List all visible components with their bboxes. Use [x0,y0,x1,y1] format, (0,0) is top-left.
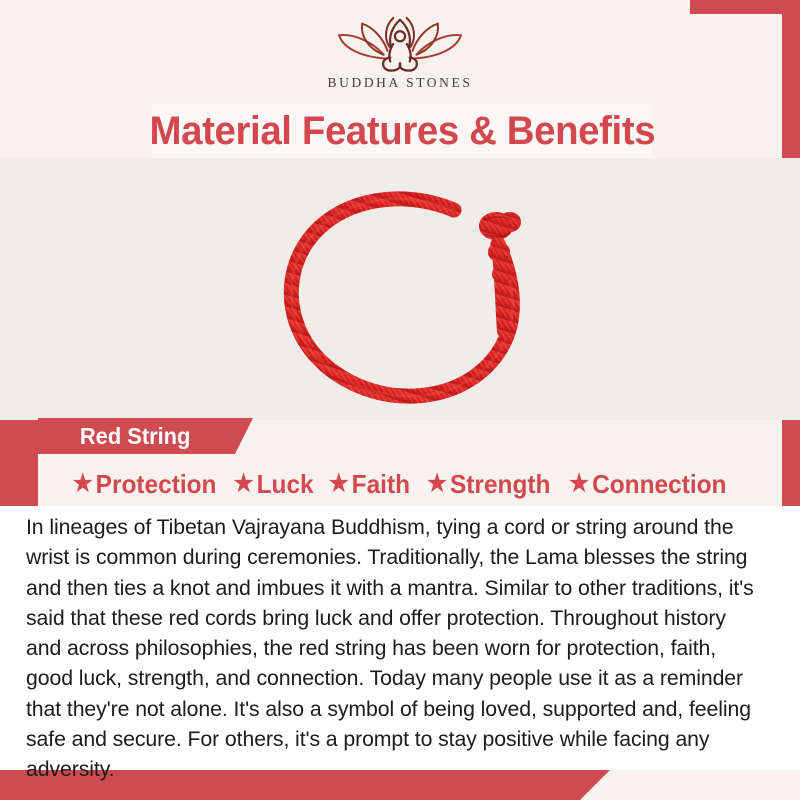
star-icon: ★ [329,472,349,496]
material-label-banner: Red String [38,418,253,454]
feature-label: Luck [257,469,314,500]
star-icon: ★ [569,472,589,496]
feature-item-luck: ★ Luck [234,469,314,500]
product-image-area [0,158,800,420]
star-icon: ★ [73,472,93,496]
description-text: In lineages of Tibetan Vajrayana Buddhis… [26,512,761,785]
star-icon: ★ [234,472,254,496]
brand-header: BUDDHA STONES [0,0,800,104]
feature-item-strength: ★ Strength [427,469,551,500]
red-braided-string-bracelet-image [210,166,610,416]
star-icon: ★ [427,472,447,496]
feature-item-faith: ★ Faith [329,469,410,500]
material-label: Red String [42,423,190,450]
brand-name: BUDDHA STONES [328,75,473,91]
feature-item-protection: ★ Protection [73,469,217,500]
title-banner: Material Features & Benefits [152,104,652,158]
feature-label: Faith [352,469,410,500]
features-list: ★ Protection ★ Luck ★ Faith ★ Strength ★… [0,462,800,506]
feature-label: Strength [450,469,550,500]
page-title: Material Features & Benefits [149,109,655,154]
feature-label: Protection [96,469,217,500]
feature-item-connection: ★ Connection [569,469,726,500]
lotus-meditation-figure-icon [325,14,475,74]
infographic-page: BUDDHA STONES Material Features & Benefi… [0,0,800,800]
feature-label: Connection [592,469,726,500]
description-panel: In lineages of Tibetan Vajrayana Buddhis… [0,506,800,770]
